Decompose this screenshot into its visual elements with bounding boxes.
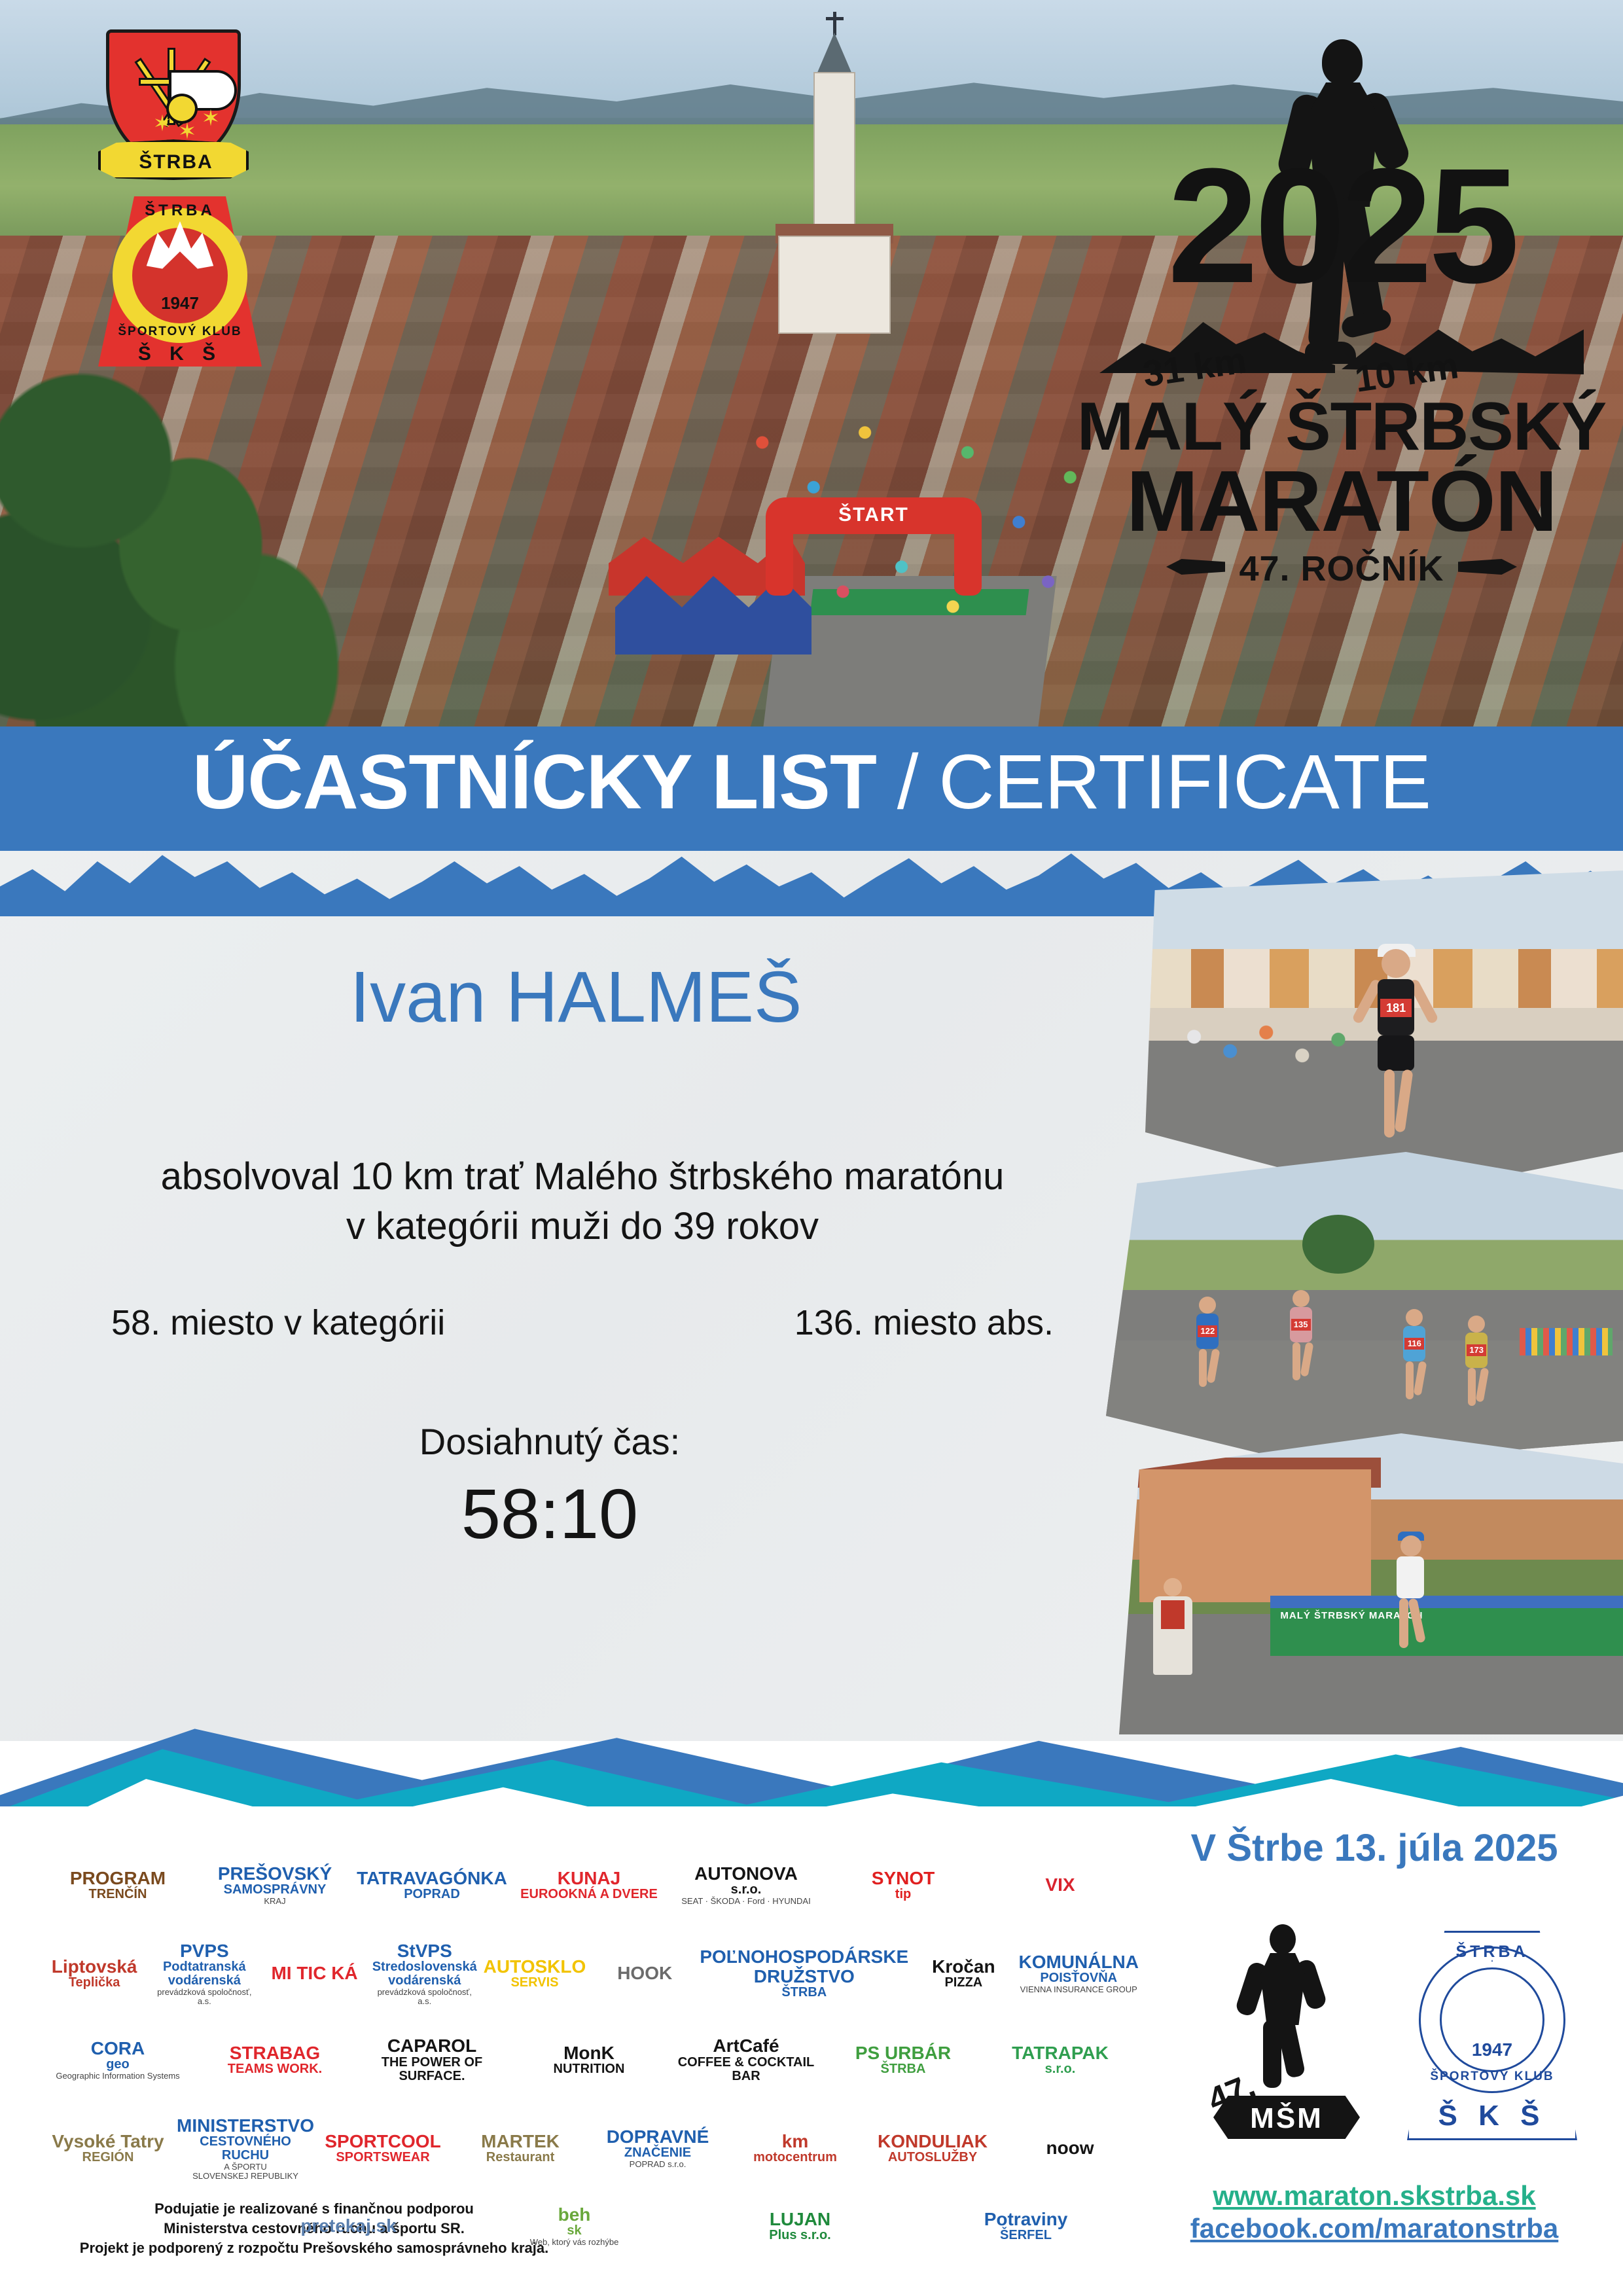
description-line-1: absolvoval 10 km trať Malého štrbského m… (72, 1152, 1093, 1202)
sponsor-line: Kročan (932, 1957, 995, 1976)
start-arch-leg-right (954, 511, 982, 596)
photo2-bib-1: 122 (1198, 1325, 1217, 1337)
certificate-description: absolvoval 10 km trať Malého štrbského m… (72, 1152, 1093, 1251)
sponsor-line: EUROOKNÁ A DVERE (520, 1888, 658, 1901)
sponsor-logo-text: KOMUNÁLNAPOISŤOVŇAVIENNA INSURANCE GROUP (1018, 1952, 1139, 1994)
sponsor-line: THE POWER OF SURFACE. (353, 2056, 510, 2083)
sks-top-label: ŠTRBA (98, 202, 262, 220)
website-link[interactable]: www.maraton.skstrba.sk (1126, 2179, 1623, 2212)
sks-footer-logo: ŠTRBA 1947 ŠPORTOVÝ KLUB Š K Š (1407, 1931, 1577, 2140)
sponsor-logo: DOPRAVNÉZNAČENIEPOPRAD s.r.o. (589, 2127, 726, 2169)
msm-abbr-plate: MŠM (1213, 2096, 1360, 2139)
photo2-bib-3: 116 (1404, 1338, 1424, 1350)
sponsor-logo: SYNOTtip (825, 1869, 982, 1901)
sponsor-row-1: PROGRAMTRENČÍNPREŠOVSKÝSAMOSPRÁVNYKRAJTA… (39, 1839, 1139, 1931)
description-line-2: v kategórii muži do 39 rokov (72, 1202, 1093, 1251)
crest-name-label: ŠTRBA (101, 151, 251, 173)
sponsor-logo-text: CAPAROLTHE POWER OF SURFACE. (353, 2036, 510, 2083)
sponsor-logo-text: PREŠOVSKÝSAMOSPRÁVNYKRAJ (218, 1864, 332, 1906)
sponsor-line: ZNAČENIE (624, 2146, 691, 2160)
sponsor-logo: AUTOSKLOSERVIS (480, 1957, 590, 1990)
marathon-logo: 2025 31 km 10 km MALÝ ŠTRBSKÝ MARATÓN 47… (1073, 39, 1610, 615)
photo2-tree (1302, 1215, 1374, 1274)
sponsor-line: ŠTRBA (781, 1986, 827, 2000)
sponsor-logo: kmmotocentrum (726, 2132, 864, 2164)
sponsor-line: beh (558, 2205, 591, 2224)
sponsor-logo-text: kmmotocentrum (753, 2132, 837, 2164)
sponsor-line: s.r.o. (1045, 2062, 1076, 2076)
sponsor-line: Restaurant (486, 2151, 554, 2164)
time-value: 58:10 (72, 1473, 1027, 1554)
sponsor-line: km (782, 2132, 808, 2151)
crest-name-ribbon: ŠTRBA (98, 139, 249, 180)
sponsor-logo-text: LUJANPlus s.r.o. (769, 2210, 830, 2242)
sponsor-logo: PS URBÁRŠTRBA (825, 2043, 982, 2076)
sponsor-line: AUTOSLUŽBY (888, 2151, 977, 2164)
msm-runner-icon (1241, 1924, 1326, 2088)
photo3-folk-vest (1161, 1600, 1185, 1629)
photo3-folk-costume-person (1149, 1578, 1195, 1696)
photo2-runner-4: 173 (1457, 1316, 1489, 1397)
sponsor-logo: HOOK (590, 1964, 700, 1982)
msm-logo: 47. MŠM (1204, 1924, 1368, 2140)
sponsor-line: ŠTRBA (881, 2062, 926, 2076)
photo2-runner-2: 135 (1282, 1290, 1320, 1391)
sponsor-line: StVPS (397, 1941, 452, 1960)
marathon-edition-label: 47. ROČNÍK (1073, 548, 1610, 589)
sponsor-logo-text: MonKNUTRITION (554, 2043, 625, 2076)
photo1-runner-head (1382, 949, 1410, 978)
sponsor-logo: MINISTERSTVOCESTOVNÉHO RUCHUA ŠPORTUSLOV… (177, 2116, 314, 2181)
sponsor-logo: MonKNUTRITION (510, 2043, 668, 2076)
sponsor-logo-text: DOPRAVNÉZNAČENIEPOPRAD s.r.o. (607, 2127, 709, 2169)
photo-runners-hill: 122 135 116 173 (1106, 1152, 1623, 1466)
runner-head (1322, 39, 1363, 85)
sponsor-logo-text: KONDULIAKAUTOSLUŽBY (878, 2132, 988, 2164)
photo3-runner-body (1397, 1556, 1424, 1598)
sponsor-line: TRENČÍN (89, 1888, 147, 1901)
sponsor-line: POPRAD s.r.o. (630, 2160, 687, 2169)
sponsor-row-4: Vysoké TatryREGIÓNMINISTERSTVOCESTOVNÉHO… (39, 2102, 1139, 2194)
sponsor-line: SERVIS (510, 1976, 558, 1990)
sponsor-logo-text: STRABAGTEAMS WORK. (228, 2043, 322, 2076)
photo2-runner-1: 122 (1188, 1297, 1226, 1395)
sponsor-logo-text: AUTOSKLOSERVIS (484, 1957, 586, 1990)
sponsor-line: SPORTCOOL (325, 2132, 440, 2151)
photo2-bib-4: 173 (1467, 1344, 1486, 1356)
sponsor-logo: pretekaj.sk (236, 2216, 461, 2235)
participant-name: Ivan HALMEŠ (79, 956, 1073, 1039)
marathon-title-line2: MARATÓN (1073, 458, 1610, 545)
photo3-runner-leg-left (1399, 1598, 1408, 1648)
sponsor-line: tip (895, 1888, 911, 1901)
title-separator: / (876, 739, 938, 825)
trees-left (0, 314, 366, 726)
sponsor-logo-text: POĽNOHOSPODÁRSKE DRUŽSTVOŠTRBA (700, 1947, 908, 2000)
sponsor-line: MonK (563, 2043, 615, 2062)
sponsor-line: MI TIC KÁ (271, 1964, 357, 1982)
crest-star-1-icon: ✶ (152, 113, 173, 134)
marathon-title-line1: MALÝ ŠTRBSKÝ (1073, 393, 1610, 461)
sponsor-logo: noow (1001, 2138, 1139, 2157)
church-cross-icon (833, 12, 836, 35)
crest-star-3-icon: ✶ (200, 108, 221, 129)
sponsor-logo-text: noow (1046, 2138, 1094, 2157)
sks-club-emblem: ŠTRBA 1947 ŠPORTOVÝ KLUB Š K Š (98, 196, 262, 367)
sponsor-line: TATRAPAK (1012, 2043, 1109, 2062)
sponsor-logo: SPORTCOOLSPORTSWEAR (314, 2132, 452, 2164)
sponsor-line: KONDULIAK (878, 2132, 988, 2151)
placement-row: 58. miesto v kategórii 136. miesto abs. (72, 1302, 1093, 1343)
photo2-runner1-leg-left (1199, 1349, 1207, 1387)
issue-date: V Štrbe 13. júla 2025 (1171, 1826, 1577, 1870)
photo2-runner2-head (1293, 1290, 1310, 1307)
sponsor-line: SPORTSWEAR (336, 2151, 429, 2164)
sponsor-line: geo (106, 2058, 130, 2072)
photo2-runner-pack (1520, 1328, 1613, 1355)
sponsor-line: Vysoké Tatry (52, 2132, 164, 2151)
msm-abbr-label: MŠM (1213, 2102, 1360, 2135)
sponsor-logo: CORAgeoGeographic Information Systems (39, 2039, 196, 2081)
sponsor-line: TATRAVAGÓNKA (357, 1869, 507, 1888)
photo1-spectators (1174, 1008, 1375, 1080)
start-arch: ŠTART (766, 497, 982, 596)
sponsor-line: MARTEK (481, 2132, 560, 2151)
sponsor-logo: KročanPIZZA (908, 1957, 1018, 1990)
sponsor-line: POISŤOVŇA (1040, 1971, 1117, 1985)
church-nave (778, 236, 891, 334)
msm-runner-body (1260, 1953, 1305, 2025)
sponsor-line: CORA (91, 2039, 145, 2058)
sponsor-line: motocentrum (753, 2151, 837, 2164)
sponsor-line: CAPAROL (387, 2036, 476, 2055)
sponsor-logo: AUTONOVAs.r.o.SEAT · ŠKODA · Ford · HYUN… (668, 1864, 825, 1906)
church-building (795, 39, 874, 321)
sponsor-logo-text: CORAgeoGeographic Information Systems (56, 2039, 179, 2081)
sponsor-logo: MARTEKRestaurant (452, 2132, 589, 2164)
sponsor-logo-text: KročanPIZZA (932, 1957, 995, 1990)
sponsor-line: CESTOVNÉHO RUCHU (177, 2135, 314, 2162)
sponsor-line: s.r.o. (731, 1883, 762, 1897)
sponsor-logo-text: ArtCaféCOFFEE & COCKTAIL BAR (668, 2036, 825, 2083)
sponsor-row-5: pretekaj.skbehskWeb, ktorý vás rozhýbeLU… (236, 2197, 1139, 2255)
sponsor-line: NUTRITION (554, 2062, 625, 2076)
sponsor-logo: KUNAJEUROOKNÁ A DVERE (510, 1869, 668, 1901)
sponsor-line: STRABAG (230, 2043, 320, 2062)
marathon-year: 2025 (1073, 151, 1610, 301)
sks-around-label: ŠPORTOVÝ KLUB (98, 325, 262, 339)
msm-runner-head (1270, 1924, 1296, 1954)
sponsor-logo: LUJANPlus s.r.o. (687, 2210, 913, 2242)
sponsor-logo-text: Vysoké TatryREGIÓN (52, 2132, 164, 2164)
photo2-bib-2: 135 (1291, 1319, 1311, 1331)
photo2-runner3-leg-left (1406, 1361, 1414, 1399)
sponsor-logo: StVPSStredoslovenská vodárenskáprevádzko… (370, 1941, 480, 2006)
crest-star-2-icon: ✶ (177, 121, 198, 142)
photo2-runner4-head (1468, 1316, 1485, 1333)
sponsor-logo: MI TIC KÁ (259, 1964, 369, 1982)
sks-footer-top-label: ŠTRBA (1407, 1943, 1577, 1962)
sponsor-line: KUNAJ (558, 1869, 620, 1888)
sponsor-line: Liptovská (52, 1957, 137, 1976)
sponsor-line: PVPS (180, 1941, 229, 1960)
photo2-runner1-leg-right (1207, 1348, 1221, 1383)
sponsor-logo-text: PotravinyŠERFEL (984, 2210, 1068, 2242)
sponsor-logo: POĽNOHOSPODÁRSKE DRUŽSTVOŠTRBA (700, 1947, 908, 2000)
sponsor-line: noow (1046, 2138, 1094, 2157)
sponsor-line: MINISTERSTVO (177, 2116, 314, 2135)
sponsor-line: TEAMS WORK. (228, 2062, 322, 2076)
sponsor-logo-text: PROGRAMTRENČÍN (70, 1869, 166, 1901)
photo2-runner3-leg-right (1414, 1361, 1427, 1395)
sponsor-row-2: LiptovskáTepličkaPVPSPodtatranská vodáre… (39, 1931, 1139, 2016)
sponsor-line: SLOVENSKEJ REPUBLIKY (192, 2172, 298, 2181)
sponsor-logo-text: LiptovskáTeplička (52, 1957, 137, 1990)
sponsor-line: SAMOSPRÁVNY (224, 1883, 327, 1897)
start-arch-label: ŠTART (766, 504, 982, 526)
strba-coat-of-arms: ✶ ✶ ✶ ŠTRBA (98, 29, 249, 190)
sponsor-logo-text: VIX (1045, 1875, 1075, 1894)
sponsor-line: POĽNOHOSPODÁRSKE DRUŽSTVO (700, 1947, 908, 1986)
sponsor-line: Podtatranská vodárenská (149, 1960, 259, 1988)
sponsor-line: SYNOT (872, 1869, 935, 1888)
sks-footer-abbr-label: Š K Š (1407, 2100, 1577, 2132)
sponsor-line: AUTONOVA (694, 1864, 798, 1883)
photo2-runner2-leg-right (1300, 1342, 1313, 1377)
sponsor-logo-text: TATRAVAGÓNKAPOPRAD (357, 1869, 507, 1901)
sponsor-line: VIX (1045, 1875, 1075, 1894)
photo1-runner: 181 (1355, 949, 1434, 1158)
title-en: CERTIFICATE (938, 739, 1431, 825)
sponsor-logo: PREŠOVSKÝSAMOSPRÁVNYKRAJ (196, 1864, 353, 1906)
sponsor-line: HOOK (617, 1964, 672, 1982)
sponsor-line: PREŠOVSKÝ (218, 1864, 332, 1883)
sponsor-line: Plus s.r.o. (769, 2229, 830, 2242)
sks-footer-around-label: ŠPORTOVÝ KLUB (1407, 2070, 1577, 2084)
sponsor-line: PROGRAM (70, 1869, 166, 1888)
sponsor-logo: STRABAGTEAMS WORK. (196, 2043, 353, 2076)
sponsor-logo-text: PS URBÁRŠTRBA (855, 2043, 951, 2076)
sponsor-logo: behskWeb, ktorý vás rozhýbe (461, 2205, 687, 2247)
sponsor-logo-text: PVPSPodtatranská vodárenskáprevádzková s… (149, 1941, 259, 2006)
contact-links: www.maraton.skstrba.sk facebook.com/mara… (1126, 2179, 1623, 2245)
photo2-runner3-head (1406, 1309, 1423, 1326)
sponsor-line: VIENNA INSURANCE GROUP (1020, 1985, 1137, 1994)
sponsor-logo: VIX (982, 1875, 1139, 1894)
photo1-runner-leg-left (1384, 1069, 1395, 1138)
sponsor-line: PS URBÁR (855, 2043, 951, 2062)
photo1-runner-shorts (1378, 1035, 1414, 1071)
sponsor-line: KRAJ (264, 1897, 285, 1906)
photo2-runner1-head (1199, 1297, 1216, 1314)
photo-finish-line: MALÝ ŠTRBSKÝ MARATÓN (1119, 1433, 1623, 1734)
sponsor-logo: TATRAPAKs.r.o. (982, 2043, 1139, 2076)
photo1-runner-leg-right (1395, 1069, 1414, 1132)
title-sk: ÚČASTNÍCKY LIST (192, 739, 876, 825)
sponsor-logo-text: AUTONOVAs.r.o.SEAT · ŠKODA · Ford · HYUN… (681, 1864, 810, 1906)
photo3-runner-leg-right (1408, 1598, 1426, 1643)
sponsor-row-3: CORAgeoGeographic Information SystemsSTR… (39, 2017, 1139, 2102)
sponsor-line: KOMUNÁLNA (1018, 1952, 1139, 1971)
sponsor-logo-text: HOOK (617, 1964, 672, 1982)
sponsor-logo-text: TATRAPAKs.r.o. (1012, 2043, 1109, 2076)
time-label: Dosiahnutý čas: (72, 1420, 1027, 1463)
sponsor-line: pretekaj.sk (300, 2216, 396, 2235)
title-banner: ÚČASTNÍCKY LIST / CERTIFICATE (0, 726, 1623, 870)
sks-footer-year-label: 1947 (1407, 2039, 1577, 2060)
page-title: ÚČASTNÍCKY LIST / CERTIFICATE (0, 744, 1623, 821)
sponsor-line: Stredoslovenská vodárenská (370, 1960, 480, 1988)
photo1-bib-number: 181 (1380, 999, 1412, 1017)
sponsor-logo: Vysoké TatryREGIÓN (39, 2132, 177, 2164)
sponsor-logo-text: behskWeb, ktorý vás rozhýbe (530, 2205, 619, 2247)
sponsor-logo-text: MINISTERSTVOCESTOVNÉHO RUCHUA ŠPORTUSLOV… (177, 2116, 314, 2181)
sponsor-logo: PROGRAMTRENČÍN (39, 1869, 196, 1901)
sponsor-line: POPRAD (404, 1888, 460, 1901)
sponsor-logo: KOMUNÁLNAPOISŤOVŇAVIENNA INSURANCE GROUP (1018, 1952, 1139, 1994)
sponsor-logo-text: MI TIC KÁ (271, 1964, 357, 1982)
photo3-runner-head (1400, 1535, 1421, 1556)
sponsor-logo: ArtCaféCOFFEE & COCKTAIL BAR (668, 2036, 825, 2083)
sponsor-line: PIZZA (944, 1976, 982, 1990)
sponsor-line: Teplička (69, 1976, 120, 1990)
sponsor-logo: TATRAVAGÓNKAPOPRAD (353, 1869, 510, 1901)
sponsor-logo: KONDULIAKAUTOSLUŽBY (864, 2132, 1001, 2164)
sponsor-logo-text: StVPSStredoslovenská vodárenskáprevádzko… (370, 1941, 480, 2006)
sponsor-line: Potraviny (984, 2210, 1068, 2229)
sponsor-logo-text: SPORTCOOLSPORTSWEAR (325, 2132, 440, 2164)
sks-year-label: 1947 (98, 293, 262, 314)
sponsor-logo-text: pretekaj.sk (300, 2216, 396, 2235)
certificate-page: ŠTART ✶ ✶ ✶ ŠTRBA ŠTRBA 1947 ŠPORTOVÝ KL… (0, 0, 1623, 2296)
photo-finisher-woman: 181 (1145, 870, 1623, 1198)
sponsor-logo-text: SYNOTtip (872, 1869, 935, 1901)
sponsor-line: Web, ktorý vás rozhýbe (530, 2238, 619, 2247)
sponsor-line: sk (567, 2224, 581, 2238)
sponsor-logo-text: KUNAJEUROOKNÁ A DVERE (520, 1869, 658, 1901)
sponsor-logo: PVPSPodtatranská vodárenskáprevádzková s… (149, 1941, 259, 2006)
facebook-link[interactable]: facebook.com/maratonstrba (1126, 2212, 1623, 2245)
sponsor-logo: CAPAROLTHE POWER OF SURFACE. (353, 2036, 510, 2083)
sponsor-line: prevádzková spoločnosť, a.s. (149, 1988, 259, 2005)
sponsor-line: Geographic Information Systems (56, 2072, 179, 2081)
photo3-folk-head (1164, 1578, 1182, 1596)
sponsor-logo: LiptovskáTeplička (39, 1957, 149, 1990)
sks-abbr-label: Š K Š (98, 343, 262, 365)
sponsor-line: ArtCafé (713, 2036, 779, 2055)
sponsor-line: LUJAN (770, 2210, 830, 2229)
photo3-finisher-runner (1381, 1535, 1440, 1686)
photo2-runner4-leg-left (1468, 1368, 1476, 1406)
sponsor-logo: PotravinyŠERFEL (913, 2210, 1139, 2242)
sponsor-line: SEAT · ŠKODA · Ford · HYUNDAI (681, 1897, 810, 1906)
sponsor-line: REGIÓN (82, 2151, 134, 2164)
sponsor-grid: PROGRAMTRENČÍNPREŠOVSKÝSAMOSPRÁVNYKRAJTA… (39, 1839, 1139, 2245)
sponsor-line: ŠERFEL (1000, 2229, 1052, 2242)
photo-collage: 181 122 135 (1106, 870, 1623, 1734)
photo2-runner-3: 116 (1395, 1309, 1429, 1395)
sponsor-line: AUTOSKLO (484, 1957, 586, 1976)
sponsor-line: A ŠPORTU (224, 2162, 267, 2172)
sponsor-line: DOPRAVNÉ (607, 2127, 709, 2146)
start-arch-leg-left (766, 511, 793, 596)
sponsor-line: COFFEE & COCKTAIL BAR (668, 2056, 825, 2083)
sponsor-logo-text: MARTEKRestaurant (481, 2132, 560, 2164)
place-absolute: 136. miesto abs. (794, 1302, 1054, 1343)
place-category: 58. miesto v kategórii (111, 1302, 445, 1343)
photo2-runner2-leg-left (1293, 1342, 1300, 1380)
sponsor-line: prevádzková spoločnosť, a.s. (370, 1988, 480, 2005)
